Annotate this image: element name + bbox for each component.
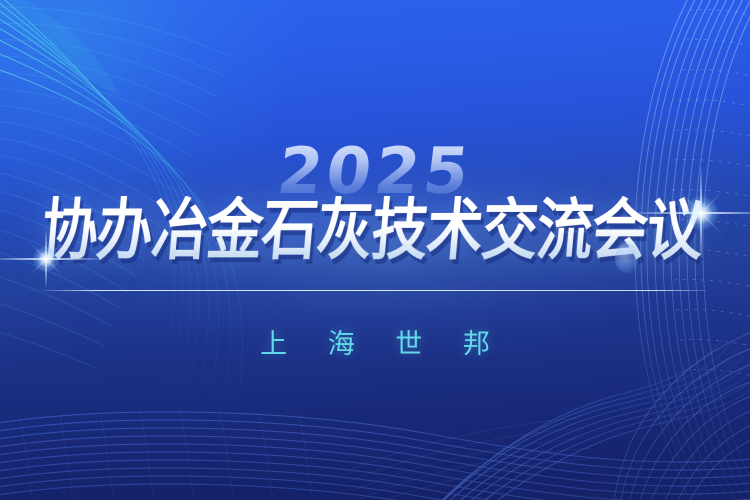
- conference-banner: 2025 协办冶金石灰技术交流会议 上 海 世 邦: [0, 0, 750, 500]
- banner-content: 2025 协办冶金石灰技术交流会议 上 海 世 邦: [0, 0, 750, 500]
- banner-subtitle: 上 海 世 邦: [0, 322, 750, 361]
- banner-title: 协办冶金石灰技术交流会议: [0, 196, 750, 266]
- title-divider: [43, 290, 706, 291]
